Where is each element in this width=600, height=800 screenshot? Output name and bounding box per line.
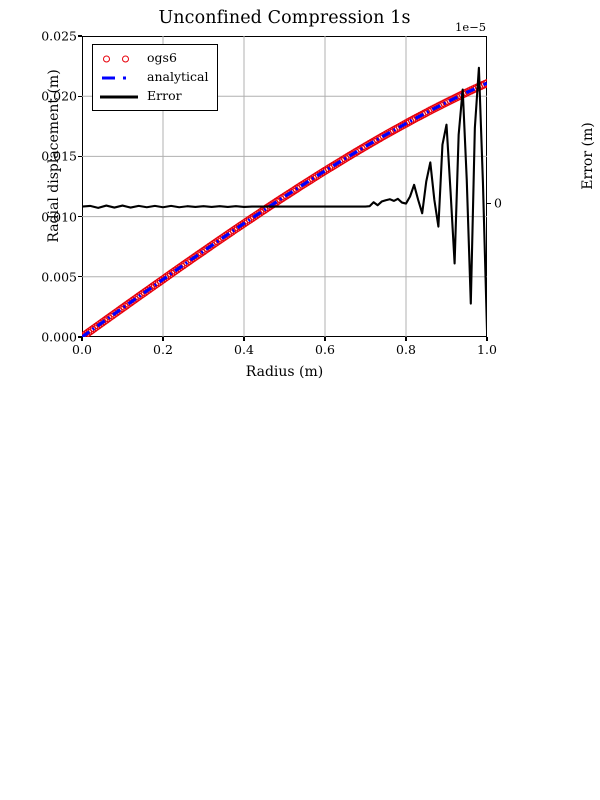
y-tick-mark-left — [78, 276, 82, 277]
x-tick-label: 0.0 — [72, 342, 92, 357]
legend-label-error: Error — [147, 90, 182, 103]
x-tick-label: 0.2 — [153, 342, 173, 357]
y-tick-mark-left — [78, 35, 82, 36]
legend-item-ogs6: ogs6 — [98, 49, 209, 68]
y-axis-left-ticks: 0.0000.0050.0100.0150.0200.025 — [0, 0, 77, 400]
figure: Unconfined Compression 1s 1e−5 0.0000.00… — [0, 0, 600, 400]
x-tick-label: 0.8 — [396, 342, 416, 357]
analytical-line-icon — [98, 71, 140, 85]
error-line-icon — [98, 90, 140, 104]
x-tick-mark — [324, 337, 325, 341]
y-axis-right-label: Error (m) — [580, 6, 596, 306]
x-tick-label: 0.6 — [315, 342, 335, 357]
x-tick-mark — [243, 337, 244, 341]
x-tick-mark — [405, 337, 406, 341]
x-tick-mark — [81, 337, 82, 341]
right-axis-offset-label: 1e−5 — [455, 20, 486, 34]
x-axis-label: Radius (m) — [82, 364, 487, 380]
y-tick-mark-right — [487, 203, 491, 204]
y-axis-right-ticks: −4−3−2−1012345 — [494, 0, 554, 400]
ogs6-marker-icon — [98, 52, 140, 66]
y-axis-left-label: Radial displacement (m) — [46, 6, 62, 306]
chart-title: Unconfined Compression 1s — [82, 8, 487, 28]
y-tick-mark-left — [78, 156, 82, 157]
x-tick-mark — [162, 337, 163, 341]
y-tick-mark-left — [78, 216, 82, 217]
legend-label-ogs6: ogs6 — [147, 52, 177, 65]
x-tick-label: 1.0 — [477, 342, 497, 357]
legend-item-analytical: analytical — [98, 68, 209, 87]
legend-item-error: Error — [98, 87, 209, 106]
legend: ogs6 analytical Error — [92, 44, 218, 111]
x-tick-label: 0.4 — [234, 342, 254, 357]
y-tick-mark-left — [78, 96, 82, 97]
y-tick-label-right: 0 — [494, 196, 502, 211]
x-tick-mark — [486, 337, 487, 341]
legend-label-analytical: analytical — [147, 71, 209, 84]
